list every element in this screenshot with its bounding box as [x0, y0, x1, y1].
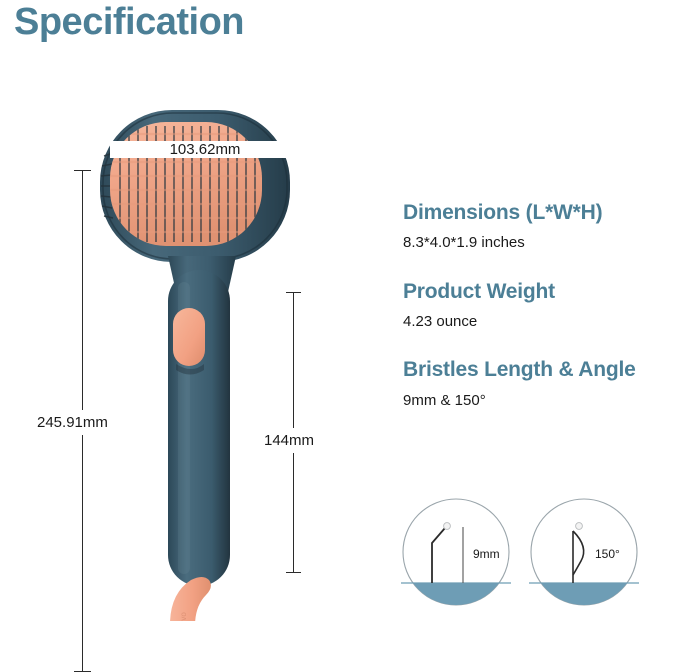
bristle-angle-label: 150° — [595, 547, 620, 561]
spec-value-bristles: 9mm & 150° — [403, 391, 667, 411]
brand-tag-text: bamvivo — [179, 612, 188, 621]
specs-list: Dimensions (L*W*H) 8.3*4.0*1.9 inches Pr… — [403, 200, 667, 436]
spec-value-weight: 4.23 ounce — [403, 312, 667, 332]
page-title: Specification — [14, 0, 244, 47]
bristle-diagrams: 9mm 150° — [401, 497, 639, 607]
bristle-length-label: 9mm — [473, 547, 500, 561]
spec-value-dimensions: 8.3*4.0*1.9 inches — [403, 233, 667, 253]
spec-heading-bristles: Bristles Length & Angle — [403, 357, 667, 382]
spec-heading-dimensions: Dimensions (L*W*H) — [403, 200, 667, 225]
spec-item-weight: Product Weight 4.23 ounce — [403, 279, 667, 332]
spec-heading-weight: Product Weight — [403, 279, 667, 304]
spec-item-bristles: Bristles Length & Angle 9mm & 150° — [403, 357, 667, 410]
handle-dimension-label: 144mm — [262, 428, 316, 453]
spec-item-dimensions: Dimensions (L*W*H) 8.3*4.0*1.9 inches — [403, 200, 667, 253]
specification-page: Specification — [0, 0, 679, 621]
product-illustration: bamvivo 103.62mm 245.91mm 144mm — [0, 60, 380, 621]
width-dimension-label: 103.62mm — [110, 141, 300, 158]
bristle-length-diagram: 9mm — [401, 497, 511, 607]
height-dimension-label: 245.91mm — [34, 410, 111, 435]
bristle-angle-diagram: 150° — [529, 497, 639, 607]
